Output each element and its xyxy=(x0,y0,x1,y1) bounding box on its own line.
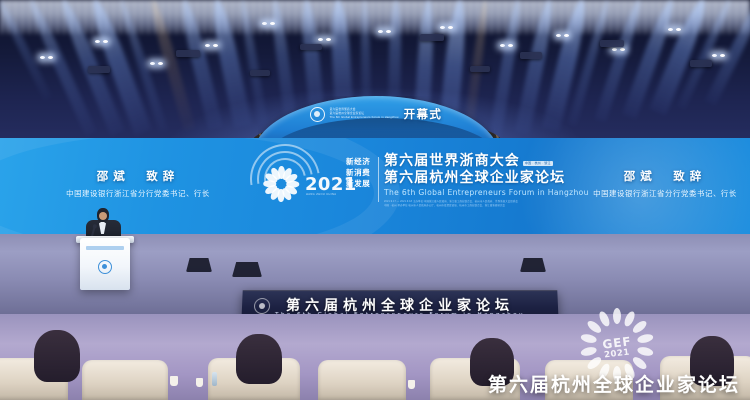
podium-and-speaker xyxy=(58,208,154,290)
led-fine-print: 2021.9.17 — 2021.9.18 主办单位:中国浙江省人民政府、浙江省… xyxy=(384,200,589,207)
led-title-chip: 中国 · 杭州 · 浙江 xyxy=(523,161,553,166)
lamp-fixture xyxy=(386,30,391,33)
petal xyxy=(613,308,621,324)
lamp-fixture xyxy=(668,28,673,31)
lamp-fixture xyxy=(158,62,163,65)
led-fine-line-1: 2021.9.17 — 2021.9.18 主办单位:中国浙江省人民政府、浙江省… xyxy=(384,200,589,203)
petal xyxy=(631,355,648,371)
lamp-fixture xyxy=(440,26,445,29)
led-fine-line-2: 中国 · 杭州 承办单位:杭州市人民政府办公厅、杭州市投资促进局、杭州市工商业联… xyxy=(384,204,589,207)
led-title-cn-1: 第六届世界浙商大会 xyxy=(384,152,520,169)
year-sub-mark: HANG ZHOU CHINA xyxy=(306,193,336,196)
lamp-fixture xyxy=(720,54,725,57)
speaker-role-left: 中国建设银行浙江省分行党委书记、行长 xyxy=(38,188,238,199)
slogan-1: 新经济 xyxy=(346,157,370,166)
speaker-role-right: 中国建设银行浙江省分行党委书记、行长 xyxy=(565,188,750,199)
stage-monitor-wedge xyxy=(232,262,262,277)
lamp-fixture xyxy=(318,38,323,41)
lamp-fixture xyxy=(150,62,155,65)
slogan-divider xyxy=(378,157,379,202)
led-title-en: The 6th Global Entrepreneurs Forum in Ha… xyxy=(384,188,589,197)
overlay-caption: 第六届杭州全球企业家论坛 xyxy=(0,370,750,397)
lamp-fixture xyxy=(270,22,275,25)
stage-photo: 第六届世界浙商大会 第六届杭州全球企业家论坛 The 6th Global En… xyxy=(0,0,750,400)
arch-line-3: The 6th Global Entrepreneurs Forum in Ha… xyxy=(330,116,399,119)
arch-content: 第六届世界浙商大会 第六届杭州全球企业家论坛 The 6th Global En… xyxy=(258,101,494,127)
stage-monitor-wedge xyxy=(520,258,546,272)
truss-box xyxy=(250,70,270,76)
arch-banner: 第六届世界浙商大会 第六届杭州全球企业家论坛 The 6th Global En… xyxy=(258,96,494,142)
lamp-fixture xyxy=(103,40,108,43)
lamp-fixture xyxy=(612,48,617,51)
speaker-caption-left: 邵斌 致辞 中国建设银行浙江省分行党委书记、行长 xyxy=(38,168,238,199)
slogan-3: 新发展 xyxy=(346,179,370,188)
lamp-fixture xyxy=(620,48,625,51)
truss-box xyxy=(690,60,712,67)
lamp-fixture xyxy=(40,56,45,59)
lamp-fixture xyxy=(676,28,681,31)
forum-circle-logo-icon xyxy=(310,107,325,122)
truss-box xyxy=(176,50,200,57)
podium-emblem-icon xyxy=(98,260,112,274)
speaker-caption-right: 邵斌 致辞 中国建设银行浙江省分行党委书记、行长 xyxy=(565,168,750,199)
petal xyxy=(597,310,611,328)
speaker-face xyxy=(99,212,107,220)
arch-small-text: 第六届世界浙商大会 第六届杭州全球企业家论坛 The 6th Global En… xyxy=(330,108,399,119)
lamp-fixture xyxy=(213,44,218,47)
lamp-fixture xyxy=(508,44,513,47)
lamp-fixture xyxy=(564,34,569,37)
arch-main-title: 开幕式 xyxy=(404,106,443,122)
podium-band xyxy=(86,246,124,250)
speaker-name-left: 邵斌 致辞 xyxy=(38,168,238,184)
stage-monitor-wedge xyxy=(186,258,212,272)
led-title-block: 第六届世界浙商大会 中国 · 杭州 · 浙江 第六届杭州全球企业家论坛 The … xyxy=(384,152,589,207)
truss-box xyxy=(300,44,322,50)
lamp-fixture xyxy=(712,54,717,57)
truss-box xyxy=(420,34,444,41)
truss-box xyxy=(88,66,110,73)
lamp-fixture xyxy=(556,34,561,37)
lamp-fixture xyxy=(95,40,100,43)
lamp-fixture xyxy=(326,38,331,41)
lamp-fixture xyxy=(378,30,383,33)
truss-box xyxy=(600,40,624,47)
slogan-column: 新经济 新消费 新发展 xyxy=(346,157,370,188)
led-title-cn-2: 第六届杭州全球企业家论坛 xyxy=(384,169,589,186)
speaker-name-right: 邵斌 致辞 xyxy=(565,168,750,184)
lamp-fixture xyxy=(500,44,505,47)
slogan-2: 新消费 xyxy=(346,168,370,177)
lamp-fixture xyxy=(48,56,53,59)
truss-box xyxy=(470,66,490,72)
lamp-fixture xyxy=(262,22,267,25)
lamp-fixture xyxy=(448,26,453,29)
podium-body xyxy=(80,238,130,290)
led-center-graphic: 2021 HANG ZHOU CHINA 新经济 新消费 新发展 第六届世界浙商… xyxy=(250,140,552,232)
petal-flower-logo-icon xyxy=(261,164,301,204)
truss-box xyxy=(520,52,542,59)
led-title-row-1: 第六届世界浙商大会 中国 · 杭州 · 浙江 xyxy=(384,152,589,169)
lamp-fixture xyxy=(205,44,210,47)
